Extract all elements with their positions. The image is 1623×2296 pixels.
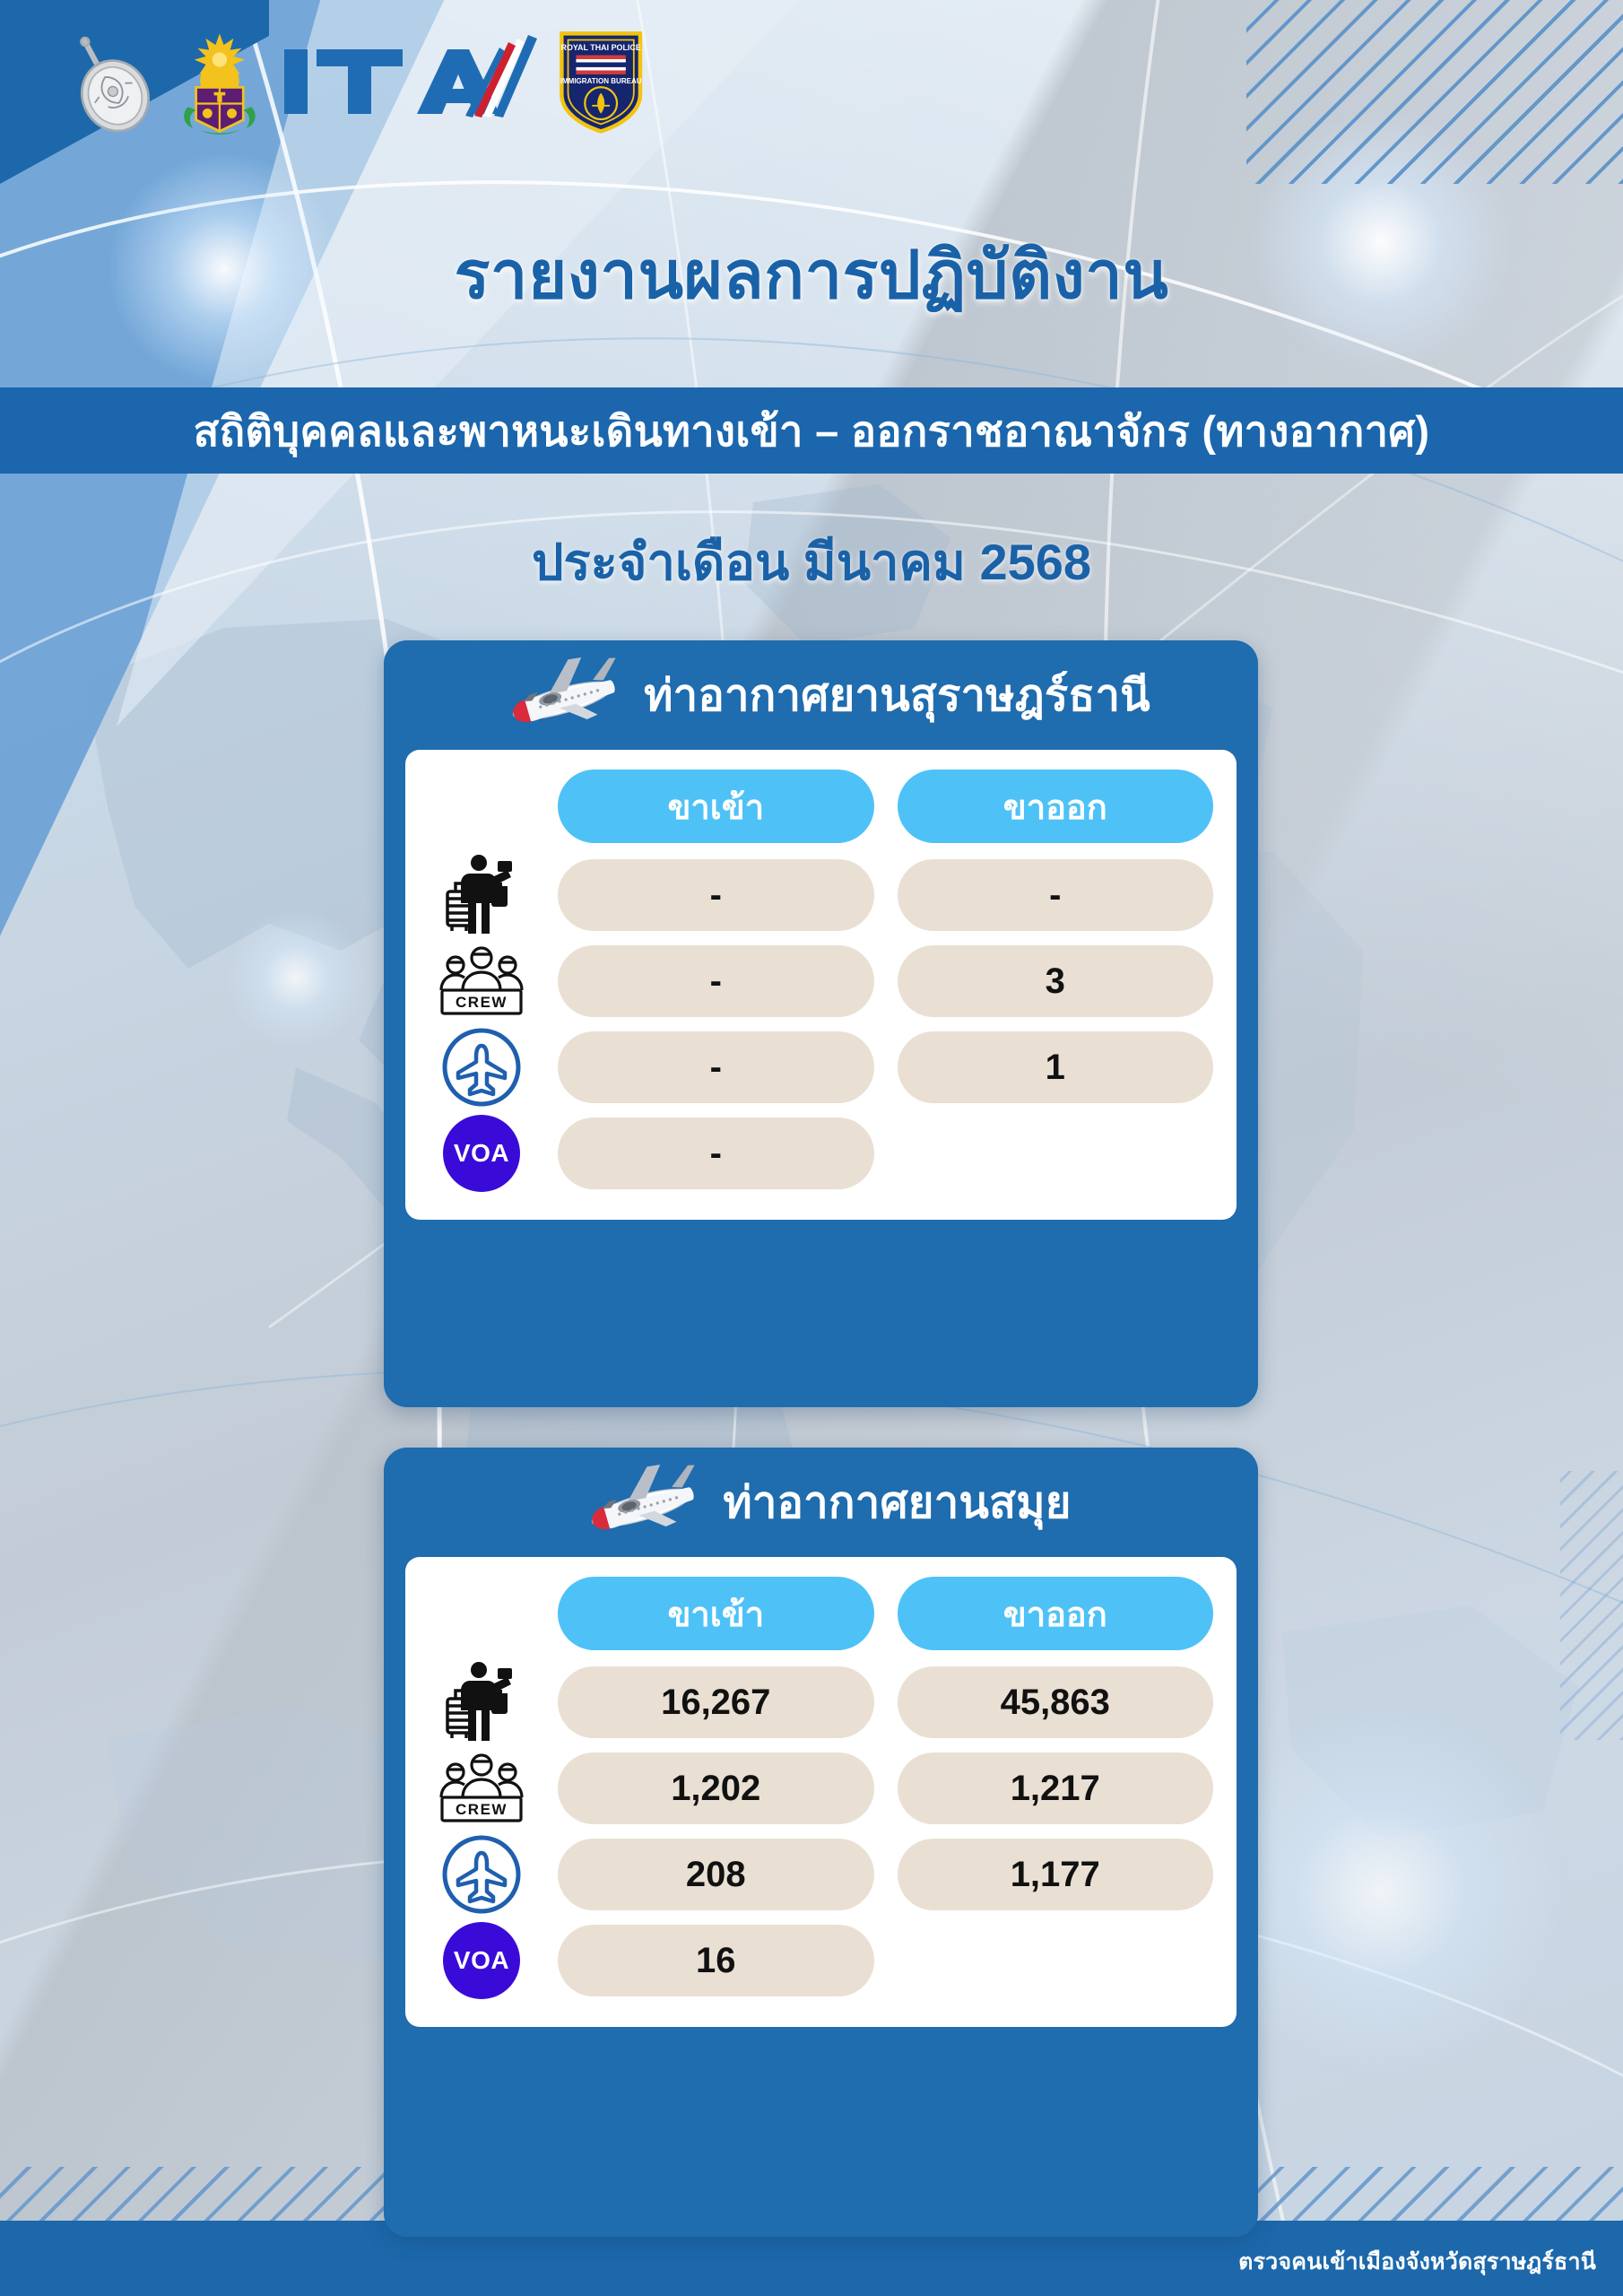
column-header-arrival: ขาเข้า [558, 1577, 874, 1650]
month-label: ประจำเดือน มีนาคม 2568 [0, 522, 1623, 602]
passenger-with-luggage-icon [429, 852, 534, 938]
value-departure: 1 [898, 1031, 1214, 1103]
value-arrival: 16 [558, 1925, 874, 1996]
value-arrival: - [558, 1031, 874, 1103]
crew-icon: CREW [429, 938, 534, 1024]
airplane-icon [570, 1461, 703, 1544]
voa-badge-icon: VOA [429, 1110, 534, 1196]
value-arrival: - [558, 859, 874, 931]
svg-text:ROYAL THAI POLICE: ROYAL THAI POLICE [560, 43, 640, 52]
voa-label: VOA [443, 1115, 520, 1192]
ita-wordmark-icon [281, 33, 541, 130]
glow-spot [224, 906, 368, 1049]
royal-seal-logo [61, 29, 159, 135]
airplane-icon [491, 654, 624, 736]
value-departure-empty [898, 1118, 1214, 1189]
surat-thani-airport-card: ท่าอากาศยานสุราษฎร์ธานี ขาเข้า ขาออก [384, 640, 1258, 1407]
ita-logo [281, 23, 541, 140]
value-arrival: 1,202 [558, 1752, 874, 1824]
value-arrival: - [558, 945, 874, 1017]
infographic-poster: ROYAL THAI POLICE IMMIGRATION BUREAU ราย… [0, 0, 1623, 2296]
voa-label: VOA [443, 1922, 520, 1999]
footer-label: ตรวจคนเข้าเมืองจังหวัดสุราษฎร์ธานี [1238, 2244, 1596, 2280]
card-title: ท่าอากาศยานสมุย [723, 1467, 1071, 1537]
aircraft-circle-icon [429, 1024, 534, 1110]
card-body: ขาเข้า ขาออก [405, 750, 1237, 1220]
page-title: รายงานผลการปฏิบัติงาน [0, 240, 1623, 310]
value-arrival: - [558, 1118, 874, 1189]
value-departure-empty [898, 1925, 1214, 1996]
crew-label: CREW [456, 994, 508, 1011]
value-departure: - [898, 859, 1214, 931]
stats-grid: ขาเข้า ขาออก [429, 770, 1213, 1196]
voa-badge-icon: VOA [429, 1918, 534, 2004]
value-departure: 1,217 [898, 1752, 1214, 1824]
aircraft-circle-icon [429, 1831, 534, 1918]
value-arrival: 208 [558, 1839, 874, 1910]
value-departure: 3 [898, 945, 1214, 1017]
subtitle-band: สถิติบุคคลและพาหนะเดินทางเข้า – ออกราชอา… [0, 387, 1623, 474]
logo-row: ROYAL THAI POLICE IMMIGRATION BUREAU [61, 23, 645, 140]
value-departure: 45,863 [898, 1666, 1214, 1738]
value-arrival: 16,267 [558, 1666, 874, 1738]
crew-label: CREW [456, 1801, 508, 1818]
card-header: ท่าอากาศยานสมุย [384, 1448, 1258, 1557]
stats-grid: ขาเข้า ขาออก [429, 1577, 1213, 2004]
diagonal-hatch-right [1560, 1471, 1623, 1740]
samui-airport-card: ท่าอากาศยานสมุย ขาเข้า ขาออก [384, 1448, 1258, 2237]
card-body: ขาเข้า ขาออก [405, 1557, 1237, 2027]
passenger-with-luggage-icon [429, 1659, 534, 1745]
diagonal-hatch-top-right [1246, 0, 1623, 184]
column-header-departure: ขาออก [898, 1577, 1214, 1650]
ministry-emblem-logo [175, 29, 265, 135]
immigration-bureau-patch-logo: ROYAL THAI POLICE IMMIGRATION BUREAU [557, 29, 645, 135]
card-title: ท่าอากาศยานสุราษฎร์ธานี [644, 660, 1150, 730]
value-departure: 1,177 [898, 1839, 1214, 1910]
column-header-arrival: ขาเข้า [558, 770, 874, 843]
subtitle-text: สถิติบุคคลและพาหนะเดินทางเข้า – ออกราชอา… [194, 397, 1430, 465]
column-header-departure: ขาออก [898, 770, 1214, 843]
crew-icon: CREW [429, 1745, 534, 1831]
card-header: ท่าอากาศยานสุราษฎร์ธานี [384, 640, 1258, 750]
svg-text:IMMIGRATION BUREAU: IMMIGRATION BUREAU [560, 77, 641, 85]
